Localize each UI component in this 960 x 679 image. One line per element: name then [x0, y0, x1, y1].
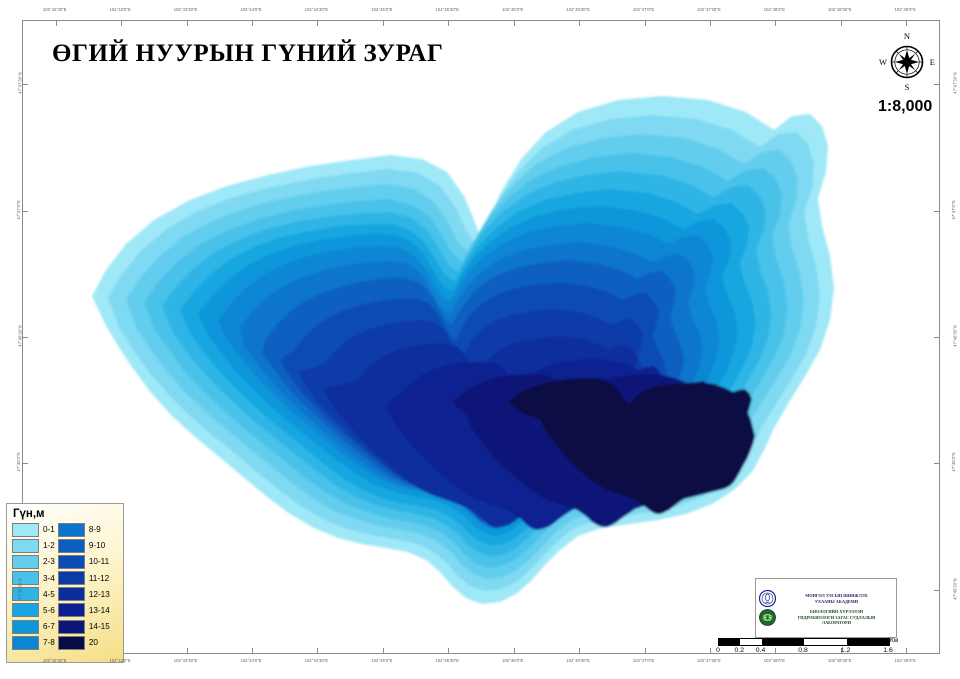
graticule-label-lon-bottom: 102°42'30"E — [43, 658, 67, 663]
legend-row-9-10: 9-10 — [58, 538, 110, 553]
graticule-label-lon-top: 102°43'0"E — [110, 7, 131, 12]
legend-row-0-1: 0-1 — [12, 522, 55, 537]
legend-label-8-9: 8-9 — [89, 525, 101, 534]
scale-bar-segments — [718, 638, 890, 646]
academy-name-line2: УХААНЫ АКАДЕМИ — [780, 599, 893, 605]
academy-name: МОНГОЛ УЛСЫН ШИНЖЛЭХ УХААНЫ АКАДЕМИ — [780, 593, 893, 604]
graticule-label-lat-right: 47°46'0"N — [951, 453, 956, 472]
page-title: ӨГИЙ НУУРЫН ГҮНИЙ ЗУРАГ — [52, 40, 443, 68]
scale-bar-tick-label: 0 — [716, 647, 720, 654]
legend-row-10-11: 10-11 — [58, 554, 110, 569]
graticule-label-lon-top: 102°43'30"E — [174, 7, 198, 12]
compass-north-label: N — [904, 31, 910, 41]
graticule-label-lat-left: 47°47'30"N — [17, 72, 22, 94]
graticule-label-lon-top: 102°44'0"E — [240, 7, 261, 12]
legend-label-14-15: 14-15 — [89, 622, 110, 631]
legend-row-13-14: 13-14 — [58, 603, 110, 618]
legend-row-12-13: 12-13 — [58, 587, 110, 602]
legend-label-5-6: 5-6 — [43, 606, 55, 615]
graticule-label-lon-top: 102°42'30"E — [43, 7, 67, 12]
legend-swatch-6-7 — [12, 620, 39, 634]
graticule-label-lon-top: 102°47'0"E — [633, 7, 654, 12]
graticule-label-lon-top: 102°45'0"E — [371, 7, 392, 12]
credit-laboratory: БИОЛОГИЙН ХҮРЭЭЛЭН ГИДРОБИОЛОГИ ЗАГАС СУ… — [756, 608, 896, 627]
graticule-label-lon-bottom: 102°48'0"E — [764, 658, 785, 663]
legend-row-11-12: 11-12 — [58, 571, 110, 586]
graticule-label-lon-top: 102°48'0"E — [764, 7, 785, 12]
depth-legend: Гүн,м 0-11-22-33-44-55-66-77-8 8-99-1010… — [6, 503, 124, 663]
scale-bar-segment — [847, 639, 890, 645]
legend-swatch-7-8 — [12, 636, 39, 650]
compass-west-label: W — [879, 57, 887, 67]
graticule-label-lon-bottom: 102°43'30"E — [174, 658, 198, 663]
compass-east-label: E — [930, 57, 935, 67]
legend-label-4-5: 4-5 — [43, 590, 55, 599]
graticule-label-lat-left: 47°47'0"N — [16, 200, 21, 219]
scale-bar-unit: Км — [890, 637, 898, 644]
legend-swatch-20 — [58, 636, 85, 650]
legend-row-5-6: 5-6 — [12, 603, 55, 618]
laboratory-name: БИОЛОГИЙН ХҮРЭЭЛЭН ГИДРОБИОЛОГИ ЗАГАС СУ… — [780, 609, 893, 626]
legend-row-2-3: 2-3 — [12, 554, 55, 569]
credits-box: МОНГОЛ УЛСЫН ШИНЖЛЭХ УХААНЫ АКАДЕМИ БИОЛ… — [755, 578, 897, 638]
legend-row-20: 20 — [58, 635, 110, 650]
legend-swatch-11-12 — [58, 571, 85, 585]
legend-label-10-11: 10-11 — [89, 557, 109, 566]
scale-bar: Км 00.20.40.81.21.6 — [718, 638, 896, 657]
graticule-label-lat-left: 47°45'30"N — [17, 578, 22, 600]
scale-bar-tick-label: 0.4 — [756, 647, 765, 654]
scale-bar-tick-label: 0.8 — [798, 647, 807, 654]
legend-column-right: 8-99-1010-1111-1212-1313-1414-1520 — [58, 522, 110, 650]
legend-swatch-13-14 — [58, 603, 85, 617]
scale-ratio-label: 1:8,000 — [878, 98, 932, 116]
graticule-label-lon-bottom: 102°46'30"E — [566, 658, 590, 663]
graticule-label-lon-top: 102°49'0"E — [895, 7, 916, 12]
legend-label-1-2: 1-2 — [43, 541, 55, 550]
graticule-label-lat-right: 47°46'30"N — [952, 325, 957, 347]
graticule-label-lon-top: 102°48'30"E — [828, 7, 852, 12]
scale-bar-segment — [719, 639, 740, 645]
legend-label-3-4: 3-4 — [43, 574, 55, 583]
legend-swatch-12-13 — [58, 587, 85, 601]
graticule-label-lon-bottom: 102°49'0"E — [895, 658, 916, 663]
credit-academy: МОНГОЛ УЛСЫН ШИНЖЛЭХ УХААНЫ АКАДЕМИ — [756, 589, 896, 608]
legend-label-13-14: 13-14 — [89, 606, 110, 615]
compass-star — [892, 47, 923, 78]
legend-row-6-7: 6-7 — [12, 619, 55, 634]
legend-row-8-9: 8-9 — [58, 522, 110, 537]
legend-row-7-8: 7-8 — [12, 635, 55, 650]
scale-bar-ticks: 00.20.40.81.21.6 — [718, 646, 888, 657]
legend-row-1-2: 1-2 — [12, 538, 55, 553]
graticule-label-lat-left: 47°46'30"N — [17, 325, 22, 347]
legend-swatch-0-1 — [12, 523, 39, 537]
graticule-label-lat-left: 47°46'0"N — [16, 453, 21, 472]
graticule-label-lat-right: 47°45'30"N — [952, 578, 957, 600]
bathymetry-map — [22, 20, 938, 652]
legend-label-0-1: 0-1 — [43, 525, 55, 534]
compass-rose: N S W E — [876, 30, 938, 92]
graticule-label-lon-bottom: 102°46'0"E — [502, 658, 523, 663]
graticule-label-lon-bottom: 102°48'30"E — [828, 658, 852, 663]
legend-swatch-1-2 — [12, 539, 39, 553]
legend-swatch-3-4 — [12, 571, 39, 585]
legend-swatch-9-10 — [58, 539, 85, 553]
laboratory-logo-icon — [759, 609, 776, 626]
graticule-label-lon-bottom: 102°43'0"E — [110, 658, 131, 663]
legend-label-11-12: 11-12 — [89, 574, 109, 583]
graticule-label-lon-top: 102°46'30"E — [566, 7, 590, 12]
legend-label-9-10: 9-10 — [89, 541, 105, 550]
scale-bar-tick-label: 1.2 — [841, 647, 850, 654]
legend-swatch-4-5 — [12, 587, 39, 601]
depth-contours — [92, 96, 834, 604]
graticule-label-lon-top: 102°45'30"E — [435, 7, 459, 12]
legend-swatch-10-11 — [58, 555, 85, 569]
legend-swatch-8-9 — [58, 523, 85, 537]
graticule-label-lon-bottom: 102°44'0"E — [240, 658, 261, 663]
graticule-label-lon-top: 102°46'0"E — [502, 7, 523, 12]
scale-bar-segment — [762, 639, 805, 645]
legend-label-7-8: 7-8 — [43, 638, 55, 647]
legend-swatch-2-3 — [12, 555, 39, 569]
laboratory-name-line3: ЛАБОРАТОРИ — [780, 620, 893, 626]
scale-bar-segment — [804, 639, 847, 645]
legend-label-20: 20 — [89, 638, 98, 647]
legend-swatch-5-6 — [12, 603, 39, 617]
scale-bar-segment — [740, 639, 761, 645]
graticule-label-lon-bottom: 102°47'30"E — [697, 658, 721, 663]
graticule-label-lon-bottom: 102°45'0"E — [371, 658, 392, 663]
legend-row-14-15: 14-15 — [58, 619, 110, 634]
graticule-label-lon-top: 102°47'30"E — [697, 7, 721, 12]
compass-south-label: S — [905, 82, 910, 92]
graticule-label-lon-bottom: 102°45'30"E — [435, 658, 459, 663]
graticule-label-lat-right: 47°47'30"N — [952, 72, 957, 94]
legend-label-6-7: 6-7 — [43, 622, 55, 631]
scale-bar-tick-label: 0.2 — [735, 647, 744, 654]
scale-bar-tick-label: 1.6 — [883, 647, 892, 654]
map-page: ӨГИЙ НУУРЫН ГҮНИЙ ЗУРАГ N S W E — [0, 0, 960, 679]
legend-label-2-3: 2-3 — [43, 557, 55, 566]
graticule-label-lon-top: 102°44'30"E — [305, 7, 329, 12]
academy-logo-icon — [759, 590, 776, 607]
legend-label-12-13: 12-13 — [89, 590, 110, 599]
graticule-label-lon-bottom: 102°47'0"E — [633, 658, 654, 663]
legend-swatch-14-15 — [58, 620, 85, 634]
graticule-label-lat-right: 47°47'0"N — [951, 200, 956, 219]
legend-title: Гүн,м — [13, 508, 123, 520]
graticule-label-lon-bottom: 102°44'30"E — [305, 658, 329, 663]
